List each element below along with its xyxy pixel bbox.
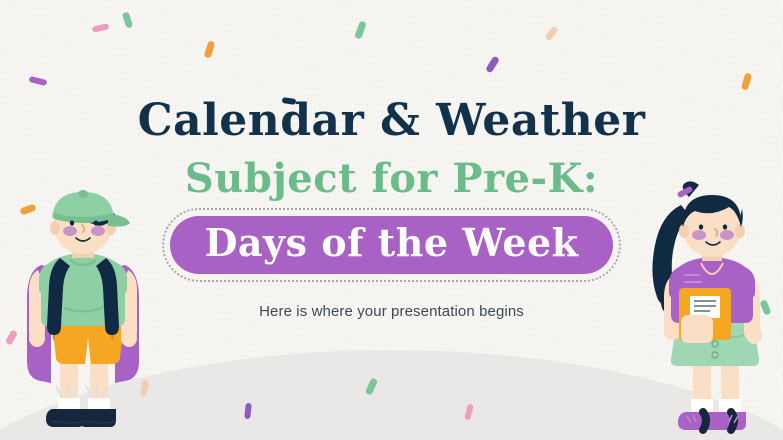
- subtitle-text: Here is where your presentation begins: [259, 303, 524, 320]
- confetti-purple-mid-right: [485, 55, 500, 73]
- boy-hand-left: [29, 329, 45, 347]
- girl-student-illustration: [637, 183, 783, 440]
- girl-book-label: [690, 296, 720, 318]
- confetti-pink-top-left: [92, 23, 110, 32]
- presentation-slide: Calendar & Weather Subject for Pre-K: Da…: [0, 0, 783, 440]
- girl-sleeve-right: [737, 267, 755, 298]
- girl-shoe-right: [706, 412, 746, 430]
- title-line-2: Subject for Pre-K:: [185, 159, 598, 199]
- confetti-navy-top: [282, 97, 297, 105]
- banner-label: Days of the Week: [204, 223, 578, 263]
- girl-ear-left: [679, 224, 689, 238]
- banner-pill: Days of the Week: [170, 216, 612, 274]
- boy-student-illustration: [8, 190, 158, 440]
- girl-ear-right: [735, 224, 745, 238]
- boy-blush-right: [91, 226, 105, 236]
- girl-shoe-toe-left: [703, 412, 706, 430]
- confetti-orange-right: [741, 72, 752, 90]
- confetti-orange-top-mid: [204, 40, 216, 58]
- girl-shoe-toe-right: [731, 412, 734, 430]
- confetti-peach-mid: [544, 25, 559, 41]
- boy-hand-right: [121, 329, 137, 347]
- confetti-purple-left: [29, 76, 48, 86]
- girl-eye-right: [723, 224, 727, 229]
- girl-hair-side-right: [740, 209, 743, 227]
- confetti-green-upper-left: [122, 11, 134, 28]
- girl-hand-left: [681, 315, 713, 343]
- boy-eye-right: [94, 220, 98, 225]
- boy-blush-left: [63, 226, 77, 236]
- girl-hand-right: [746, 326, 762, 344]
- girl-eye-left: [699, 224, 703, 229]
- boy-eye-left: [70, 220, 74, 225]
- boy-cap-brim: [108, 214, 130, 227]
- title-line-1: Calendar & Weather: [138, 99, 646, 143]
- girl-blush-right: [720, 230, 734, 240]
- boy-cap-button: [78, 190, 88, 198]
- boy-ear-left: [50, 221, 60, 235]
- confetti-green-top-right: [354, 20, 367, 39]
- girl-blush-left: [692, 230, 706, 240]
- banner-dotted-outline: Days of the Week: [162, 208, 620, 282]
- boy-shoe-right: [78, 409, 116, 427]
